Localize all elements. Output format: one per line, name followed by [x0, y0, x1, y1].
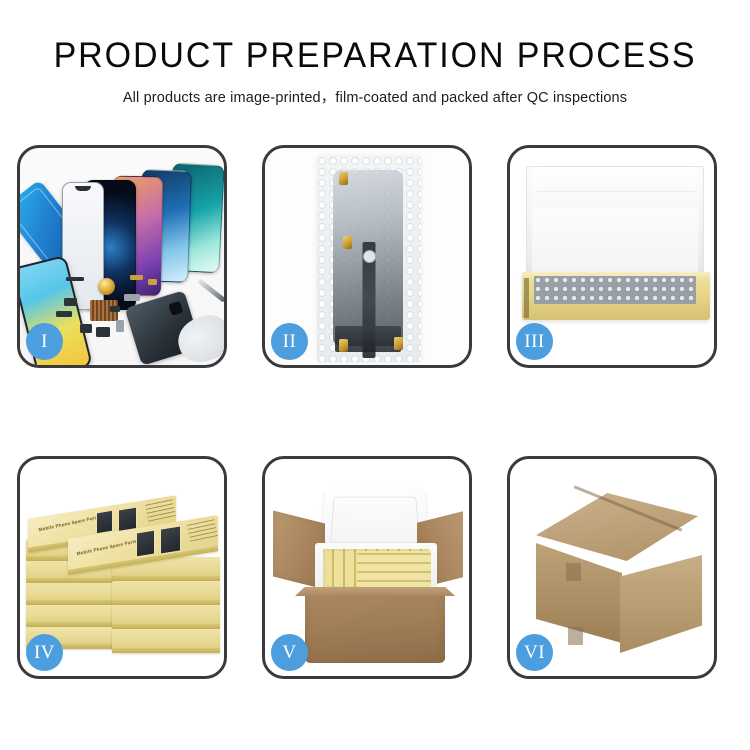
process-step-panel-2: II: [262, 145, 472, 368]
carton-body-graphic: [305, 587, 445, 663]
product-preparation-process-page: PRODUCT PREPARATION PROCESS All products…: [0, 0, 750, 750]
bubble-wrap-bag-graphic: [317, 156, 421, 362]
speaker-coil-graphic: [98, 278, 115, 295]
page-subtitle: All products are image-printed，film-coat…: [0, 86, 750, 107]
step-number-badge: V: [271, 634, 308, 671]
stacked-box: [112, 629, 220, 653]
box-window-graphic: [136, 529, 155, 557]
process-step-panel-4: Mobile Phone Spare Parts Mobile Phone Sp…: [17, 456, 227, 679]
small-part-graphic: [80, 324, 92, 333]
small-part-graphic: [148, 279, 157, 285]
process-steps-grid: I II: [17, 145, 733, 679]
carton-right-face: [620, 555, 702, 653]
process-step-panel-1: I: [17, 145, 227, 368]
small-part-graphic: [110, 306, 120, 312]
small-part-graphic: [56, 311, 72, 317]
carton-tab-graphic: [568, 627, 583, 645]
step-number-badge: VI: [516, 634, 553, 671]
small-part-graphic: [96, 327, 110, 337]
small-part-graphic: [66, 277, 84, 281]
small-part-graphic: [130, 275, 143, 280]
stacked-box: [112, 581, 220, 605]
process-step-panel-5: V: [262, 456, 472, 679]
gold-tab-graphic: [394, 337, 403, 350]
step-number-badge: III: [516, 323, 553, 360]
small-part-graphic: [124, 294, 140, 301]
stacked-box: [112, 605, 220, 629]
yellow-boxes-graphic: [357, 551, 431, 589]
page-header: PRODUCT PREPARATION PROCESS All products…: [0, 0, 750, 107]
step-number-badge: II: [271, 323, 308, 360]
process-step-panel-3: III: [507, 145, 717, 368]
small-part-graphic: [116, 320, 124, 332]
carton-tab-graphic: [566, 563, 581, 581]
box-window-graphic: [160, 525, 181, 554]
step-number-badge: I: [26, 323, 63, 360]
bubble-wrap-fill-graphic: [534, 276, 696, 304]
foam-liner-graphic: [532, 208, 698, 278]
box-window-graphic: [96, 510, 113, 535]
gold-tab-graphic: [343, 236, 352, 249]
gold-tab-graphic: [339, 339, 348, 352]
step-number-badge: IV: [26, 634, 63, 671]
process-step-panel-6: VI: [507, 456, 717, 679]
small-part-graphic: [64, 298, 77, 306]
gold-tab-graphic: [339, 172, 348, 185]
screwdriver-icon: [197, 278, 224, 302]
page-title: PRODUCT PREPARATION PROCESS: [11, 38, 739, 75]
